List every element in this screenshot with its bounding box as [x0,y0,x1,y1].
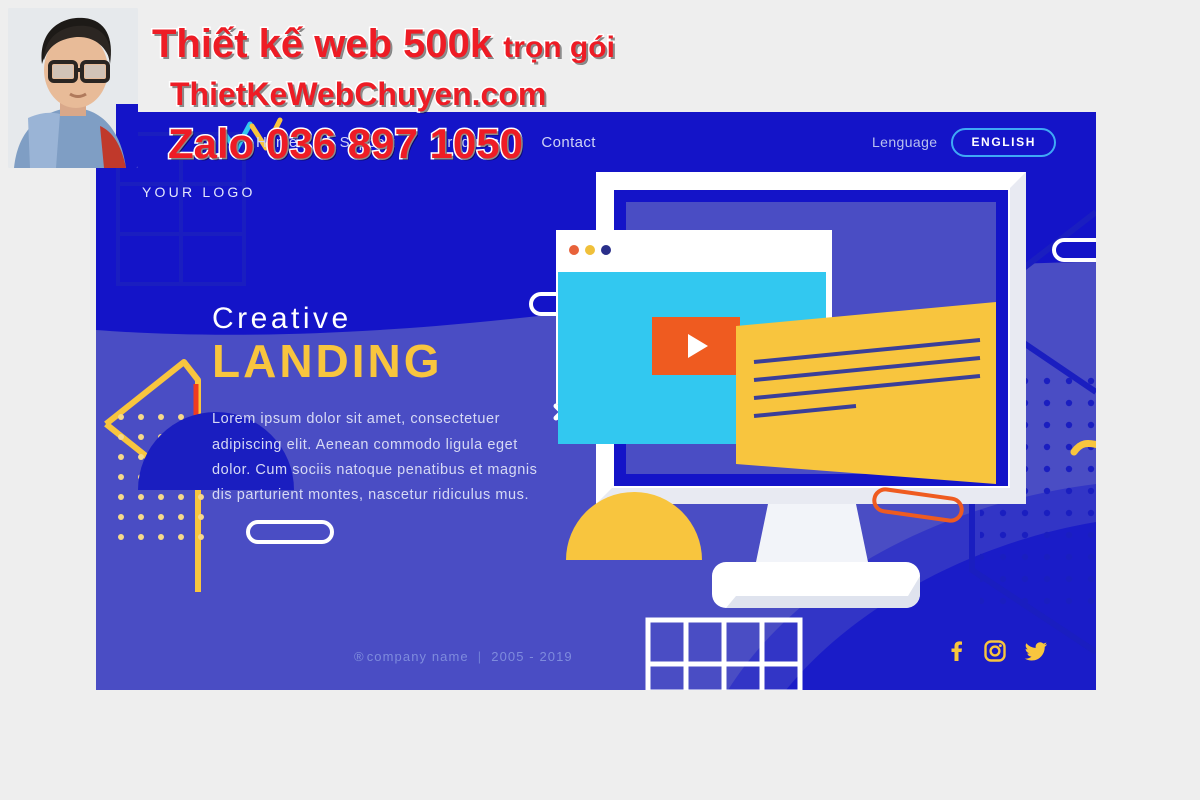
footer-copyright: ® company name | 2005 - 2019 [354,649,573,664]
language-pill-english[interactable]: ENGLISH [951,128,1056,157]
yellow-text-card [736,302,996,484]
footer-years: 2005 - 2019 [491,649,573,664]
brand-logo[interactable]: YOUR LOGO [142,184,256,200]
logo-text: YOUR LOGO [142,184,256,200]
footer-separator: | [478,649,482,664]
social-links [946,640,1048,662]
nav-item-home[interactable]: Home [256,134,298,151]
registered-mark-icon: ® [354,649,365,664]
screenshot-canvas: Home Support Products Contact Lenguage E… [0,0,1200,800]
hero-eyebrow: Creative [212,302,542,335]
footer-company-name: company name [367,649,469,664]
main-navigation: Home Support Products Contact Lenguage E… [96,112,1096,172]
watermark-line-1: Thiết kế web 500k trọn gói [152,22,615,67]
nav-item-list: Home Support Products Contact [256,134,596,151]
language-label: Lenguage [872,134,938,150]
watermark-line-2: ThietKeWebChuyen.com [170,76,546,113]
hero-body-text: Lorem ipsum dolor sit amet, consectetuer… [212,407,542,509]
hero-copy-block: Creative LANDING Lorem ipsum dolor sit a… [212,302,542,509]
landing-page-hero: Home Support Products Contact Lenguage E… [96,112,1096,690]
twitter-icon[interactable] [1024,640,1048,662]
nav-item-products[interactable]: Products [437,134,499,151]
facebook-icon[interactable] [946,640,966,662]
hero-headline: LANDING [212,337,542,385]
nav-item-support[interactable]: Support [340,134,395,151]
instagram-icon[interactable] [984,640,1006,662]
nav-item-contact[interactable]: Contact [541,134,596,151]
language-selector[interactable]: Lenguage ENGLISH [872,128,1056,157]
